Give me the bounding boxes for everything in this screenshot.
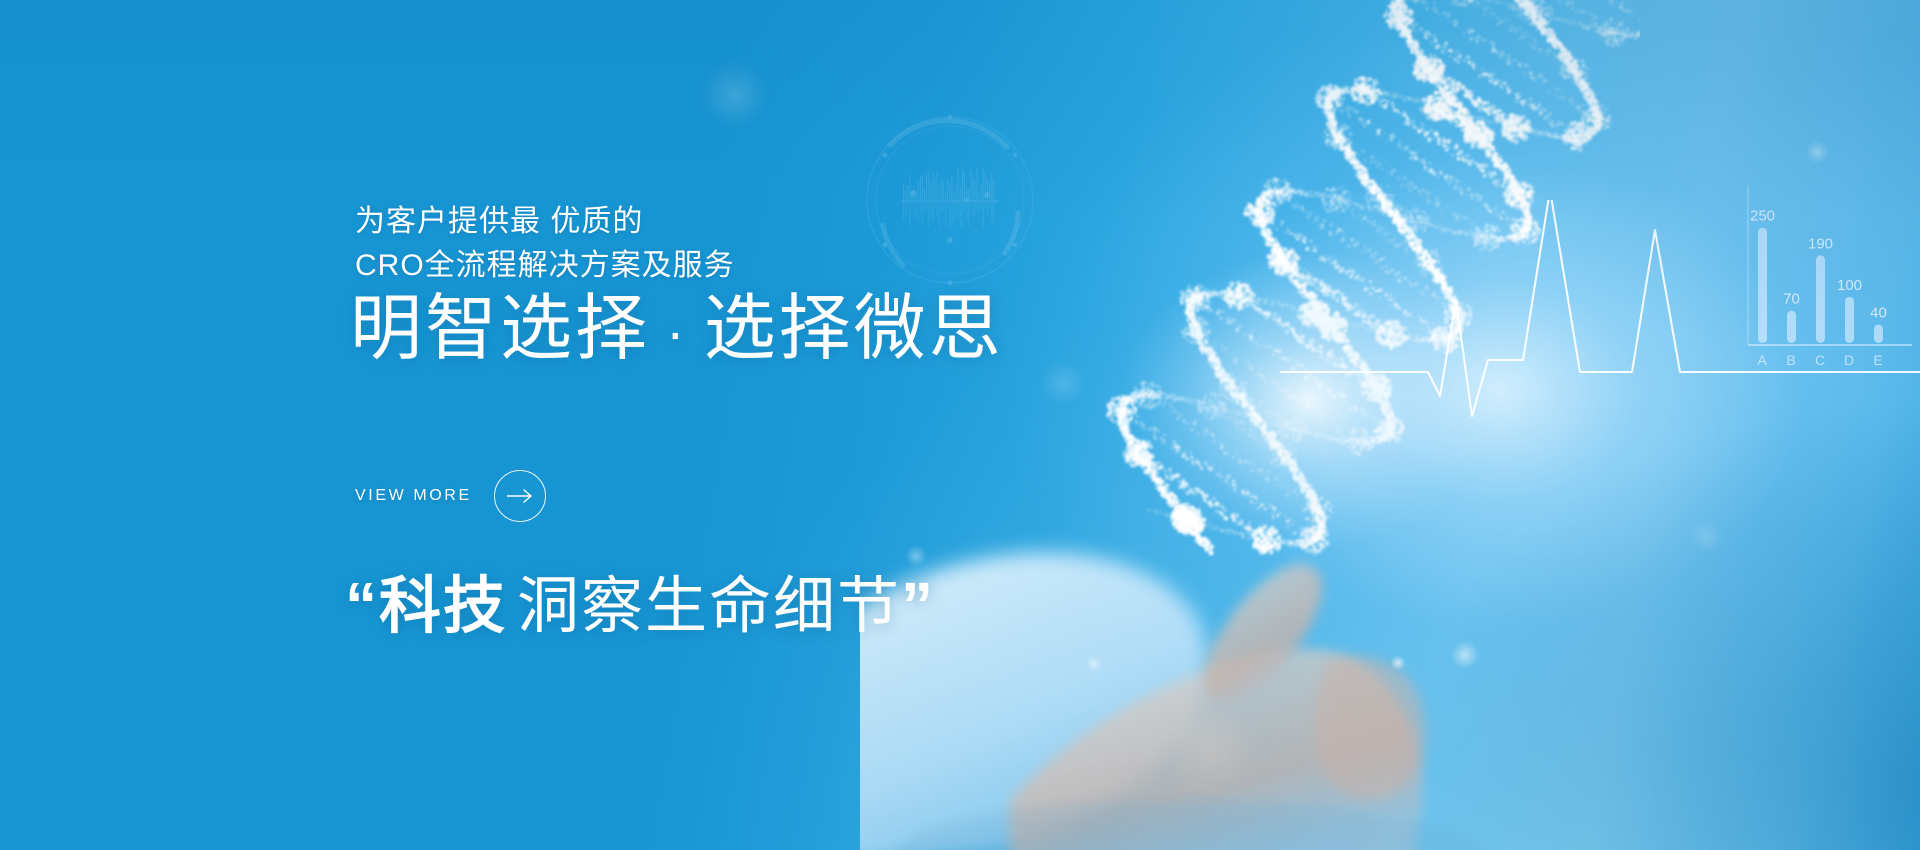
view-more-button[interactable]: VIEW MORE xyxy=(355,470,546,522)
quote-open-mark: “ xyxy=(345,569,379,641)
hero-banner: 250A70B190C100D40E 为客户提供最 优质的 CRO全流程解决方案… xyxy=(0,0,1920,850)
headline-separator: · xyxy=(650,300,704,363)
hero-quote: “科技洞察生命细节” xyxy=(345,555,935,645)
page-title: 明智选择·选择微思 xyxy=(350,290,1004,369)
headline-left: 明智选择 xyxy=(350,289,650,369)
subtitle-line-2: CRO全流程解决方案及服务 xyxy=(355,244,735,287)
quote-light-text: 洞察生命细节 xyxy=(507,572,901,641)
hero-content: 为客户提供最 优质的 CRO全流程解决方案及服务 明智选择·选择微思 VIEW … xyxy=(355,0,1255,850)
view-more-label: VIEW MORE xyxy=(355,487,472,505)
quote-close-mark: ” xyxy=(901,569,935,641)
headline-right: 选择微思 xyxy=(704,289,1004,369)
quote-bold-text: 科技 xyxy=(379,572,507,641)
subtitle-line-1: 为客户提供最 优质的 xyxy=(355,200,643,243)
arrow-right-icon[interactable] xyxy=(494,470,546,522)
